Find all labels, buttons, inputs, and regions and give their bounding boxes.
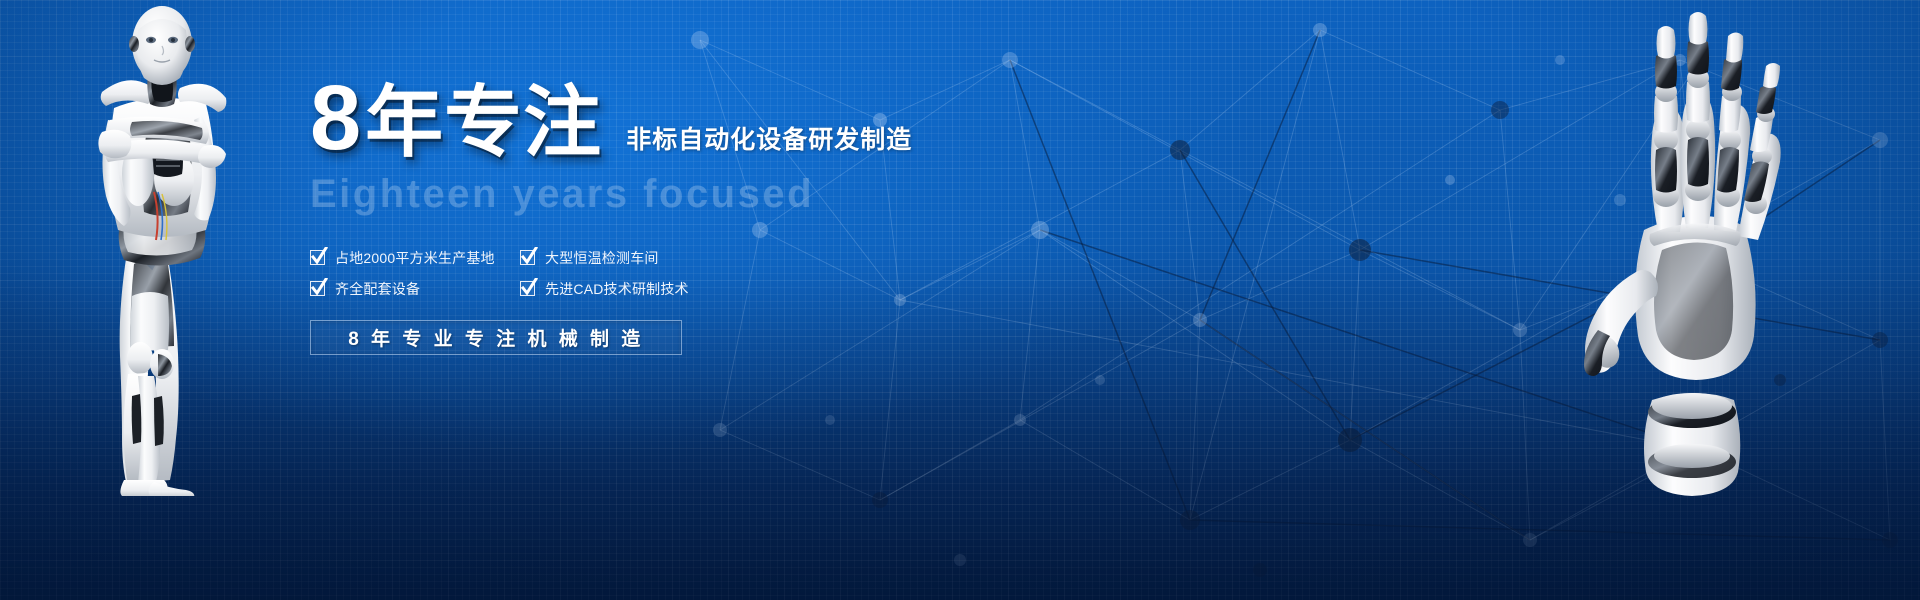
headline-row: 8年专注 非标自动化设备研发制造 bbox=[310, 72, 1210, 164]
check-icon bbox=[310, 281, 325, 296]
headline-english: Eighteen years focused bbox=[310, 172, 1210, 216]
robotic-hand-figure bbox=[1540, 0, 1840, 500]
check-icon bbox=[310, 250, 325, 265]
feature-label: 大型恒温检测车间 bbox=[545, 248, 659, 268]
headline-main: 8年专注 bbox=[310, 72, 602, 164]
feature-item: 齐全配套设备 bbox=[310, 273, 520, 304]
headline-main-text: 年专注 bbox=[365, 78, 602, 166]
banner-content: 8年专注 非标自动化设备研发制造 Eighteen years focused … bbox=[310, 72, 1210, 355]
headline-subtitle: 非标自动化设备研发制造 bbox=[626, 120, 912, 164]
feature-label: 先进CAD技术研制技术 bbox=[545, 279, 689, 299]
feature-label: 占地2000平方米生产基地 bbox=[335, 248, 495, 268]
feature-list: 占地2000平方米生产基地 大型恒温检测车间 齐全配套设备 bbox=[310, 242, 1210, 304]
feature-label: 齐全配套设备 bbox=[335, 279, 420, 299]
check-icon bbox=[520, 250, 535, 265]
headline-number: 8 bbox=[310, 67, 365, 169]
slogan-box: 8 年 专 业 专 注 机 械 制 造 bbox=[310, 320, 682, 355]
feature-item: 占地2000平方米生产基地 bbox=[310, 242, 520, 273]
check-icon bbox=[520, 281, 535, 296]
feature-item: 大型恒温检测车间 bbox=[520, 242, 760, 273]
promo-banner: 8年专注 非标自动化设备研发制造 Eighteen years focused … bbox=[0, 0, 1920, 600]
feature-item: 先进CAD技术研制技术 bbox=[520, 273, 760, 304]
slogan-text: 8 年 专 业 专 注 机 械 制 造 bbox=[348, 324, 644, 351]
humanoid-robot-figure bbox=[62, 0, 277, 496]
